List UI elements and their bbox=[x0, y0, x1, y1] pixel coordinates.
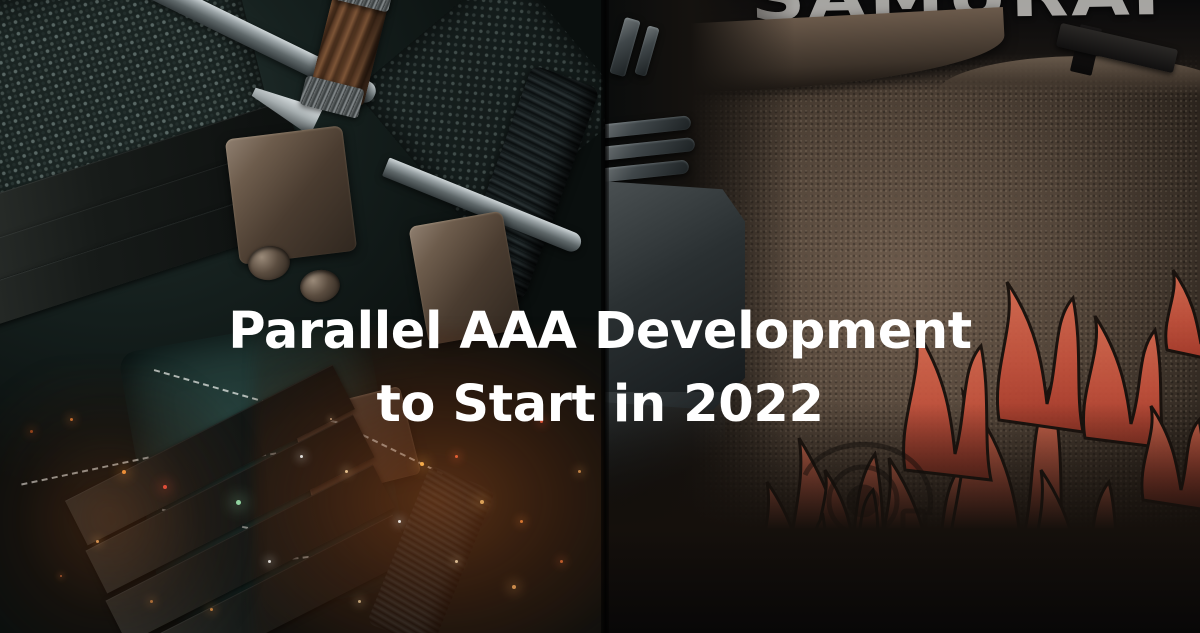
metal-fitting bbox=[225, 125, 357, 264]
headline-line-1: Parallel AAA Development bbox=[0, 296, 1200, 368]
promo-banner: SAMURAI bbox=[0, 0, 1200, 633]
headline-line-2: to Start in 2022 bbox=[0, 369, 1200, 441]
banner-headline: Parallel AAA Development to Start in 202… bbox=[0, 296, 1200, 441]
